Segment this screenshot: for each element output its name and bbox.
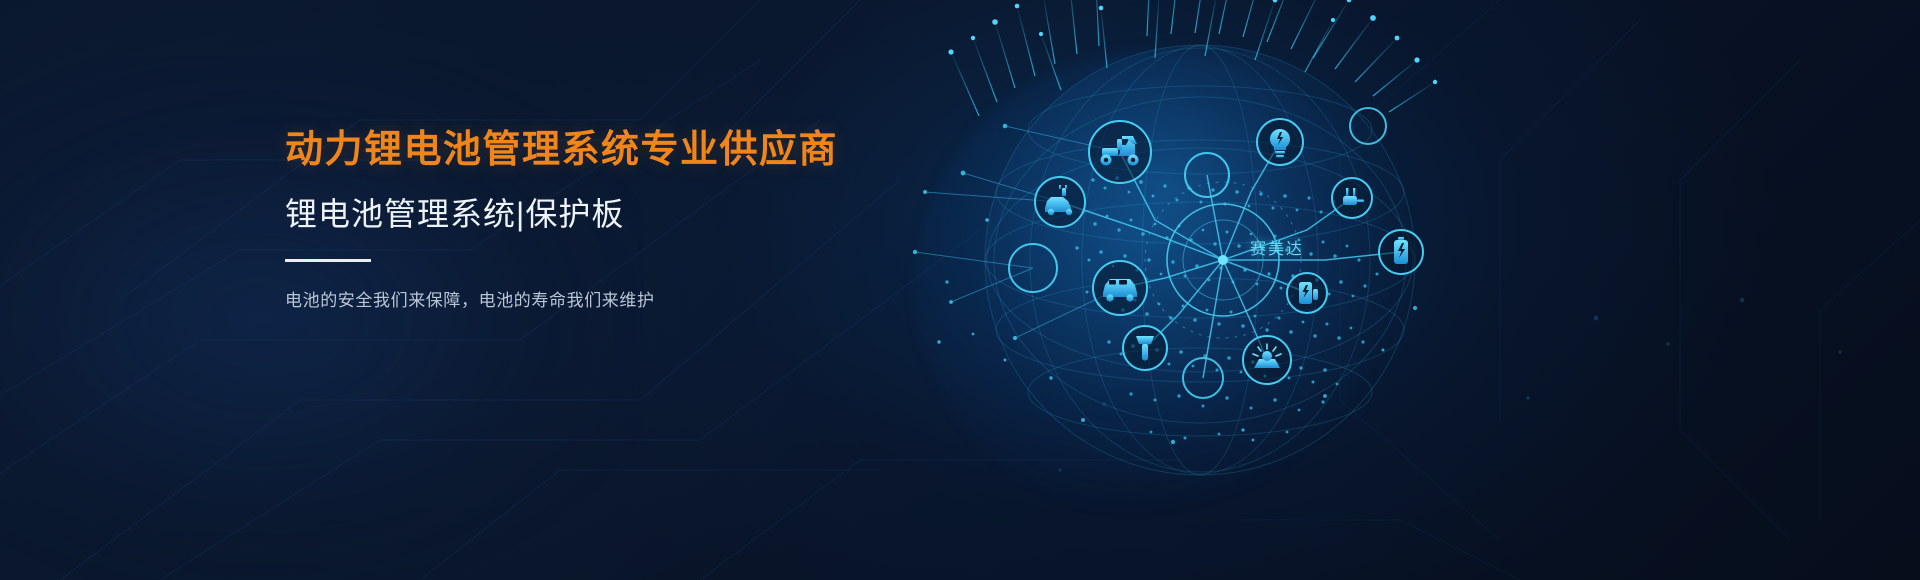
hero-banner: 动力锂电池管理系统专业供应商 锂电池管理系统|保护板 电池的安全我们来保障，电池… xyxy=(0,0,1920,580)
node-lightbulb xyxy=(1257,119,1303,165)
hero-copy: 动力锂电池管理系统专业供应商 锂电池管理系统|保护板 电池的安全我们来保障，电池… xyxy=(285,128,905,314)
node-battery xyxy=(1379,230,1423,274)
page-title: 动力锂电池管理系统专业供应商 xyxy=(285,128,905,173)
node-car xyxy=(1093,261,1147,315)
globe-svg xyxy=(855,0,1475,550)
node-charging-station xyxy=(1287,273,1327,313)
page-tagline: 电池的安全我们来保障，电池的寿命我们来维护 xyxy=(285,288,905,314)
node-tool xyxy=(1123,326,1167,370)
node-solar xyxy=(1243,336,1291,384)
node-plug xyxy=(1332,178,1372,218)
page-subtitle: 锂电池管理系统|保护板 xyxy=(285,195,905,233)
node-scooter xyxy=(1089,121,1151,183)
network-globe-graphic: 赛美达 xyxy=(855,0,1475,550)
node-car-charging xyxy=(1035,177,1085,227)
title-divider xyxy=(285,259,371,262)
